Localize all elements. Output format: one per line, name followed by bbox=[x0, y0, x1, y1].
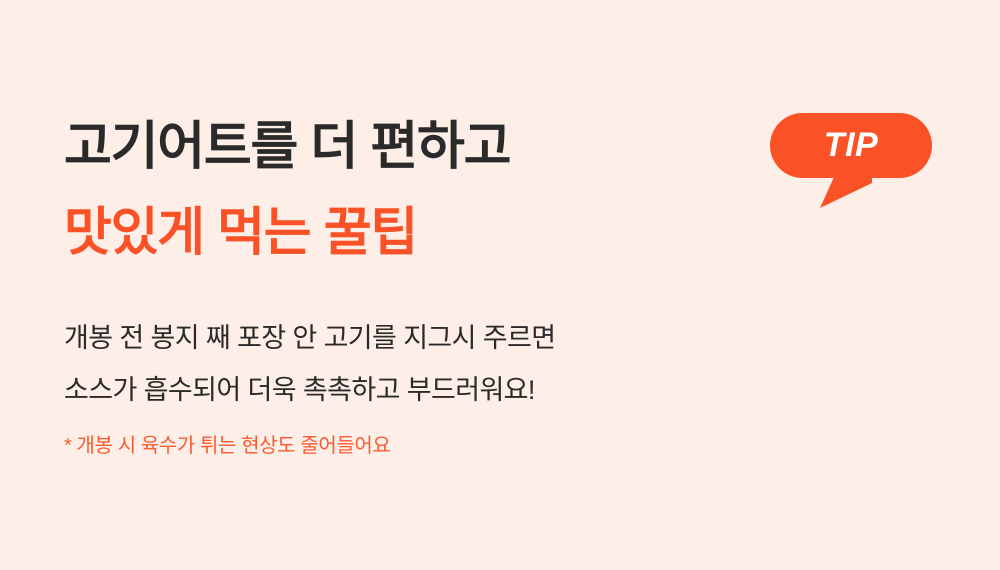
headline-line-1: 고기어트를 더 편하고 bbox=[64, 104, 510, 190]
headline-line-2: 맛있게 먹는 꿀팁 bbox=[64, 190, 510, 276]
tip-badge: TIP bbox=[770, 113, 932, 178]
tip-badge-label: TIP bbox=[824, 128, 878, 164]
tip-promo-banner: 고기어트를 더 편하고 맛있게 먹는 꿀팁 개봉 전 봉지 째 포장 안 고기를… bbox=[0, 0, 1000, 570]
footnote-note: * 개봉 시 육수가 튀는 현상도 줄어들어요 bbox=[64, 431, 390, 461]
body-copy: 개봉 전 봉지 째 포장 안 고기를 지그시 주르면 소스가 흡수되어 더욱 촉… bbox=[64, 312, 556, 416]
headline: 고기어트를 더 편하고 맛있게 먹는 꿀팁 bbox=[64, 104, 510, 276]
speech-bubble-tail-icon bbox=[816, 175, 872, 209]
body-copy-line-1: 개봉 전 봉지 째 포장 안 고기를 지그시 주르면 bbox=[64, 312, 556, 364]
body-copy-line-2: 소스가 흡수되어 더욱 촉촉하고 부드러워요! bbox=[64, 364, 556, 416]
tip-badge-bubble: TIP bbox=[770, 113, 932, 178]
